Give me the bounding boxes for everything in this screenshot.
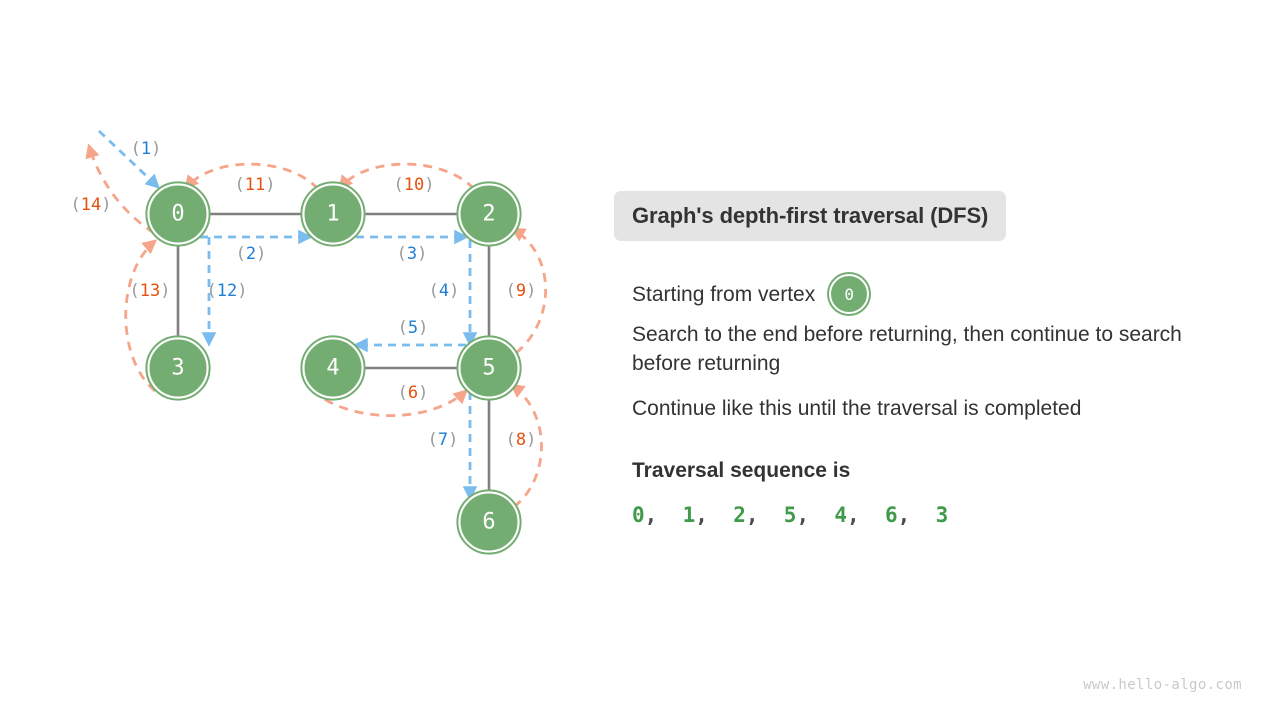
sequence-separator: ,	[796, 503, 834, 527]
vertex-3[interactable]: 3	[146, 336, 209, 399]
sequence-value: 1	[683, 503, 696, 527]
vertex-1-label: 1	[326, 202, 339, 227]
starting-vertex-line: Starting from vertex 0	[632, 274, 869, 314]
sequence-separator: ,	[847, 503, 885, 527]
step-label-6: (6)	[398, 383, 429, 403]
step-label-13: (13)	[130, 281, 171, 301]
vertex-0[interactable]: 0	[146, 182, 209, 245]
sequence-value: 6	[885, 503, 898, 527]
sequence-value: 3	[936, 503, 949, 527]
step-label-3: (3)	[397, 244, 428, 264]
vertex-3-label: 3	[171, 356, 184, 381]
graph-svg: 0 1 2 3 4	[0, 0, 600, 720]
vertex-0-label: 0	[171, 202, 184, 227]
sequence-heading: Traversal sequence is	[632, 459, 850, 483]
step-label-11: (11)	[235, 175, 276, 195]
step-label-8: (8)	[506, 430, 537, 450]
step-label-7: (7)	[428, 430, 459, 450]
graph-diagram-panel: 0 1 2 3 4	[0, 0, 600, 720]
search-description-line: Search to the end before returning, then…	[632, 320, 1192, 378]
starting-vertex-text: Starting from vertex	[632, 280, 815, 309]
vertex-6-label: 6	[482, 510, 495, 535]
vertex-6[interactable]: 6	[457, 490, 520, 553]
step-label-9: (9)	[506, 281, 537, 301]
starting-vertex-badge: 0	[829, 274, 869, 314]
watermark: www.hello-algo.com	[1083, 677, 1242, 693]
sequence-value: 0	[632, 503, 645, 527]
sequence-separator: ,	[645, 503, 683, 527]
explanation-panel: Graph's depth-first traversal (DFS) Star…	[614, 0, 1280, 720]
sequence-separator: ,	[695, 503, 733, 527]
title-banner: Graph's depth-first traversal (DFS)	[614, 191, 1006, 241]
step-label-4: (4)	[429, 281, 460, 301]
vertex-4-label: 4	[326, 356, 339, 381]
vertex-1[interactable]: 1	[301, 182, 364, 245]
step-label-10: (10)	[394, 175, 435, 195]
step-label-12: (12)	[207, 281, 248, 301]
sequence-separator: ,	[746, 503, 784, 527]
vertex-2-label: 2	[482, 202, 495, 227]
sequence-value: 5	[784, 503, 797, 527]
vertex-4[interactable]: 4	[301, 336, 364, 399]
step-label-1: (1)	[131, 139, 162, 159]
step-order-labels: (1) (2) (3) (4) (5) (6) (7) (8) (9) (10)…	[71, 139, 537, 450]
step-label-14: (14)	[71, 195, 112, 215]
vertex-2[interactable]: 2	[457, 182, 520, 245]
continue-description-line: Continue like this until the traversal i…	[632, 394, 1232, 423]
page-title: Graph's depth-first traversal (DFS)	[632, 203, 988, 229]
sequence-separator: ,	[898, 503, 936, 527]
sequence-value: 4	[834, 503, 847, 527]
step-label-2: (2)	[236, 244, 267, 264]
step-label-5: (5)	[398, 318, 429, 338]
vertex-5[interactable]: 5	[457, 336, 520, 399]
backtrack-arrow-14	[89, 146, 154, 233]
traversal-sequence: 0, 1, 2, 5, 4, 6, 3	[632, 503, 948, 527]
sequence-value: 2	[733, 503, 746, 527]
vertex-5-label: 5	[482, 356, 495, 381]
